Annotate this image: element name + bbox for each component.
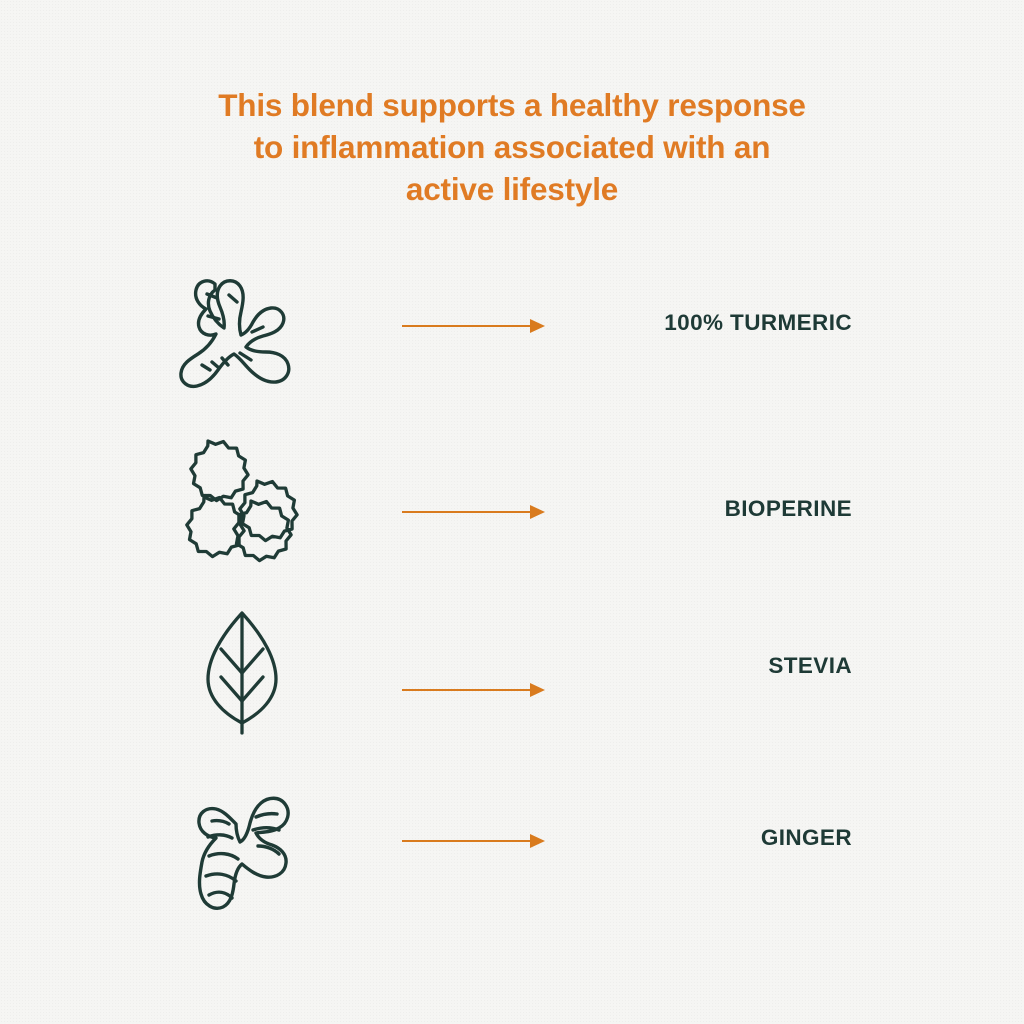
stevia-leaf-icon xyxy=(196,605,288,740)
peppercorns-icon xyxy=(182,435,300,568)
ingredient-label: BIOPERINE xyxy=(432,496,852,522)
ingredient-label: GINGER xyxy=(432,825,852,851)
right-arrow-icon xyxy=(402,681,547,699)
turmeric-root-icon xyxy=(168,254,313,404)
page-title: This blend supports a healthy response t… xyxy=(162,84,862,210)
ingredient-label: STEVIA xyxy=(432,653,852,679)
infographic-page: This blend supports a healthy response t… xyxy=(0,0,1024,1024)
ingredient-label: 100% TURMERIC xyxy=(432,310,852,336)
ginger-root-icon xyxy=(182,776,302,921)
